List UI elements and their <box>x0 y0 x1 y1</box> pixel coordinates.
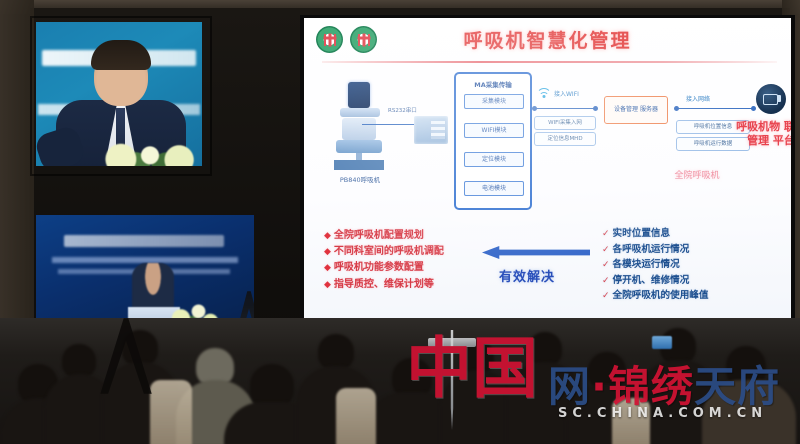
audience-head <box>62 344 96 378</box>
network-label: 接入网络 <box>686 94 710 103</box>
module-item-2: WIFI模块 <box>464 123 524 138</box>
audience-head <box>528 332 562 366</box>
list-item: 各呼吸机运行情况 <box>602 242 791 258</box>
acquisition-module-box: MA采集传输 采集模块 WIFI模块 定位模块 电池模块 <box>454 72 532 210</box>
list-item: 各模块运行情况 <box>602 257 791 273</box>
left-wall <box>0 0 34 330</box>
audience-chair <box>150 380 192 444</box>
device-management-server-box: 设备管理 服务器 <box>604 96 668 124</box>
list-item: 全院呼吸机的使用峰值 <box>602 288 791 304</box>
slide-title: 呼吸机智慧化管理 <box>304 26 791 53</box>
backdrop-title-text <box>64 235 224 247</box>
rs232-label: RS232串口 <box>388 106 417 114</box>
list-item: 全院呼吸机配置规划 <box>324 228 539 244</box>
list-item: 实时位置信息 <box>602 226 791 242</box>
presentation-slide: 呼吸机智慧化管理 PB840呼吸机 RS232串口 MA采集传输 采集模块 WI… <box>304 18 791 328</box>
whole-hospital-ventilators-label: 全院呼吸机 <box>642 168 752 181</box>
ventilator-caption: PB840呼吸机 <box>312 174 408 184</box>
list-item: 停开机、维修情况 <box>602 273 791 289</box>
network-link-line <box>676 108 754 109</box>
stage-backdrop <box>36 215 254 327</box>
platform-label: 呼吸机物 联网管理 平台 <box>732 120 791 148</box>
audience-head <box>460 340 494 374</box>
pip-speaker-hair <box>91 40 151 70</box>
module-item-4: 电池模块 <box>464 181 524 196</box>
wifi-link-line <box>534 108 596 109</box>
picture-in-picture-speaker-video <box>36 22 202 166</box>
audience-shoulder <box>440 370 516 444</box>
right-bullet-list: 实时位置信息 各呼吸机运行情况 各模块运行情况 停开机、维修情况 全院呼吸机的使… <box>602 226 791 304</box>
screenshot-root: 呼吸机智慧化管理 PB840呼吸机 RS232串口 MA采集传输 采集模块 WI… <box>0 0 800 444</box>
wifi-pill-2: 定位信息MHD <box>534 132 596 146</box>
wifi-icon <box>536 88 551 100</box>
ventilator-arm <box>340 108 380 117</box>
ventilator-illustration <box>330 82 388 170</box>
ventilator-base <box>336 140 382 153</box>
audience-shoulder <box>702 380 796 444</box>
wifi-pill-1: WIFI采集入网 <box>534 116 596 130</box>
platform-server-icon <box>756 84 786 114</box>
audience-head <box>318 334 354 370</box>
ventilator-display <box>348 82 370 108</box>
audience-phone-screen <box>652 336 672 349</box>
ventilator-body <box>342 118 376 140</box>
audience-chair <box>336 388 376 444</box>
solve-label: 有效解决 <box>499 266 555 285</box>
converter-device-icon <box>414 116 448 144</box>
module-item-3: 定位模块 <box>464 152 524 167</box>
wifi-label: 接入WIFI <box>554 89 579 98</box>
architecture-diagram: PB840呼吸机 RS232串口 MA采集传输 采集模块 WIFI模块 定位模块… <box>304 70 791 230</box>
title-divider <box>322 61 777 63</box>
module-box-title: MA采集传输 <box>456 79 530 89</box>
ventilator-wheels <box>334 160 384 170</box>
pip-flower-arrangement <box>98 140 202 166</box>
audience-chair <box>612 398 650 444</box>
module-item-1: 采集模块 <box>464 94 524 109</box>
